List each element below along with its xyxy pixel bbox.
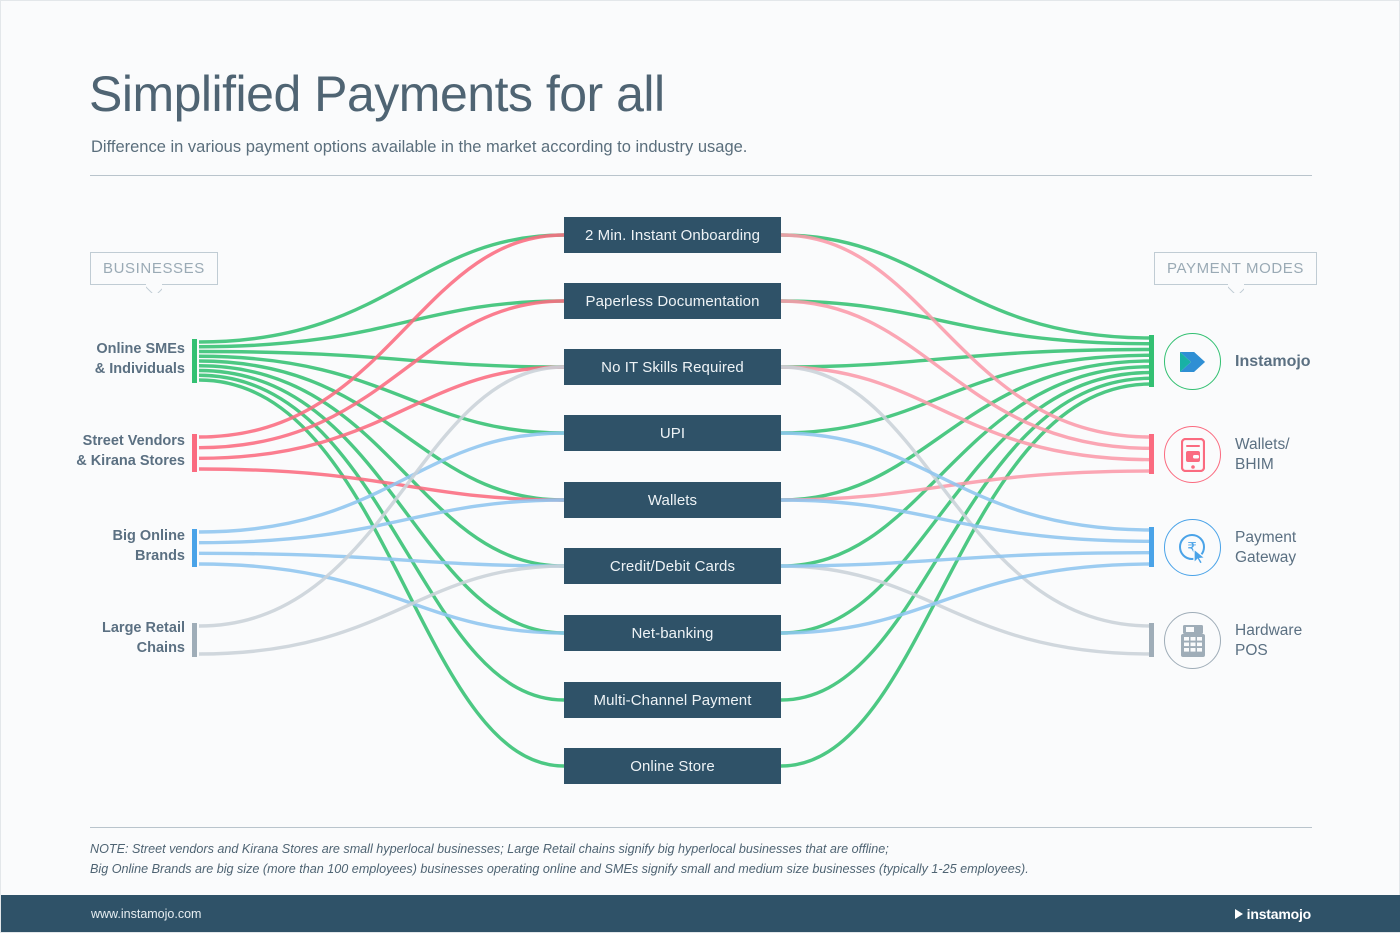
footer-bar: www.instamojo.com instamojo [1,895,1400,932]
feature-box-no-it-skills[interactable]: No IT Skills Required [564,349,781,385]
mobile-wallet-icon [1164,426,1221,483]
business-label-online-smes: Online SMEs& Individuals [95,340,185,379]
footer-url[interactable]: www.instamojo.com [91,907,201,921]
feature-box-wallets[interactable]: Wallets [564,482,781,518]
flow-link-right [781,471,1151,500]
payment-mode-label: Instamojo [1235,352,1311,372]
feature-box-paperless-documentation[interactable]: Paperless Documentation [564,283,781,319]
note-line-2: Big Online Brands are big size (more tha… [90,862,1029,876]
feature-box-online-store[interactable]: Online Store [564,748,781,784]
flow-link-left [199,301,564,448]
flow-link-right [781,500,1151,541]
payment-mode-node-bar [1149,434,1154,474]
feature-box-label: Credit/Debit Cards [610,558,735,575]
logo-caret-icon [1235,909,1243,919]
footer-logo-text: instamojo [1247,906,1311,922]
flow-link-right [781,235,1151,338]
instamojo-arrow-icon [1164,333,1221,390]
footer-logo: instamojo [1235,906,1311,922]
payment-mode-label: HardwarePOS [1235,621,1302,660]
business-node-bar [192,339,197,383]
payment-mode-payment-gateway[interactable]: ₹PaymentGateway [1164,519,1296,576]
business-node-bar [192,623,197,657]
business-label-line2: & Individuals [95,360,185,380]
business-label-line1: Large Retail [102,620,185,636]
flow-link-left [199,235,564,437]
feature-box-upi[interactable]: UPI [564,415,781,451]
rupee-cursor-icon: ₹ [1164,519,1221,576]
business-label-line2: & Kirana Stores [76,452,185,472]
payment-mode-wallets-bhim[interactable]: Wallets/BHIM [1164,426,1290,483]
payment-mode-label: Wallets/BHIM [1235,435,1290,474]
note-divider [90,827,1312,828]
flow-link-left [199,469,564,500]
payment-mode-line1: Hardware [1235,622,1302,639]
payment-mode-line1: Payment [1235,529,1296,546]
infographic-page: Simplified Payments for all Difference i… [0,0,1400,933]
feature-box-label: Online Store [630,758,715,775]
payment-mode-hardware-pos[interactable]: HardwarePOS [1164,612,1302,669]
payment-mode-instamojo[interactable]: Instamojo [1164,333,1311,390]
flow-link-left [199,564,564,633]
feature-box-multi-channel-payment[interactable]: Multi-Channel Payment [564,682,781,718]
flow-link-right [781,564,1151,633]
business-label-street-vendors: Street Vendors& Kirana Stores [76,432,185,471]
payment-mode-label: PaymentGateway [1235,528,1296,567]
flow-link-right [781,384,1151,766]
feature-box-label: No IT Skills Required [601,359,744,376]
flow-link-right [781,566,1151,654]
flow-link-left [199,367,564,626]
feature-box-net-banking[interactable]: Net-banking [564,615,781,651]
business-label-line2: Chains [102,639,185,659]
pos-terminal-icon [1164,612,1221,669]
note-line-1: NOTE: Street vendors and Kirana Stores a… [90,842,889,856]
feature-box-label: UPI [660,425,685,442]
feature-box-label: Paperless Documentation [585,293,759,310]
payment-mode-line1: Instamojo [1235,353,1311,370]
payment-mode-node-bar [1149,623,1154,657]
feature-box-label: Net-banking [632,625,714,642]
business-label-line1: Online SMEs [96,341,185,357]
business-label-large-retail-chains: Large RetailChains [102,619,185,658]
business-node-bar [192,529,197,567]
business-label-big-online-brands: Big OnlineBrands [113,527,186,566]
business-label-line1: Street Vendors [83,433,185,449]
feature-box-credit-debit-cards[interactable]: Credit/Debit Cards [564,548,781,584]
business-label-line2: Brands [113,547,186,567]
payment-mode-node-bar [1149,527,1154,567]
business-node-bar [192,434,197,472]
flow-link-right [781,367,1151,626]
business-label-line1: Big Online [113,528,186,544]
flow-link-left [199,500,564,543]
payment-mode-line2: BHIM [1235,456,1274,473]
payment-mode-line2: POS [1235,642,1268,659]
flow-link-left [199,366,564,566]
payment-mode-line1: Wallets/ [1235,436,1290,453]
feature-box-instant-onboarding[interactable]: 2 Min. Instant Onboarding [564,217,781,253]
flow-link-left [199,566,564,654]
feature-box-label: 2 Min. Instant Onboarding [585,227,760,244]
payment-mode-line2: Gateway [1235,549,1296,566]
payment-mode-node-bar [1149,335,1154,387]
feature-box-label: Wallets [648,492,697,509]
feature-box-label: Multi-Channel Payment [593,692,751,709]
